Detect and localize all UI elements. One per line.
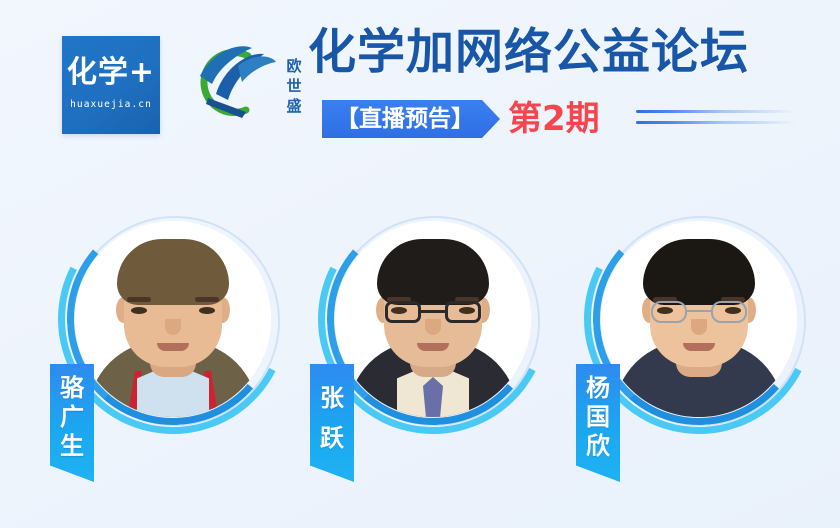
speaker-name-ribbon: 骆 广 生 [50, 364, 94, 482]
promo-poster: 化学+ huaxuejia.cn 欧 世 盛 化学加网络公益论坛 【直播预告】 … [0, 0, 840, 528]
oushisheng-logo-text: 欧 世 盛 [284, 56, 304, 116]
speaker-portrait-ring [328, 214, 542, 428]
speaker-name-char: 生 [50, 432, 94, 461]
speaker-portrait-ring [594, 214, 808, 428]
speaker-card: 骆 广 生 [22, 212, 282, 512]
speaker-photo [335, 221, 531, 417]
poster-header: 化学+ huaxuejia.cn 欧 世 盛 化学加网络公益论坛 【直播预告】 … [0, 0, 840, 165]
live-preview-badge: 【直播预告】 [322, 100, 500, 138]
swirl-icon [190, 32, 282, 136]
speaker-name-ribbon: 张 跃 [310, 364, 354, 482]
speaker-name-char: 欣 [576, 432, 620, 461]
huaxuejia-logo: 化学+ huaxuejia.cn [62, 36, 160, 134]
speaker-name-char: 杨 [576, 374, 620, 403]
oushisheng-logo: 欧 世 盛 [190, 32, 302, 136]
speaker-card: 杨 国 欣 [548, 212, 808, 512]
huaxuejia-logo-url: huaxuejia.cn [62, 99, 160, 110]
speaker-portrait-ring [68, 214, 282, 428]
speaker-photo [601, 221, 797, 417]
speaker-card: 张 跃 [282, 212, 542, 512]
partner-char-1: 世 [286, 77, 301, 95]
speaker-name-char: 骆 [50, 374, 94, 403]
huaxuejia-logo-mark: 化学+ [62, 58, 160, 88]
poster-title: 化学加网络公益论坛 [308, 26, 749, 79]
decorative-lines [636, 110, 806, 130]
speaker-name-char: 跃 [310, 418, 354, 458]
partner-char-2: 盛 [286, 97, 301, 115]
speaker-name-ribbon: 杨 国 欣 [576, 364, 620, 482]
speaker-name-char: 国 [576, 403, 620, 432]
partner-char-0: 欧 [286, 57, 301, 75]
speaker-name-char: 广 [50, 403, 94, 432]
speaker-name-char: 张 [310, 378, 354, 418]
speaker-photo [75, 221, 271, 417]
issue-number-label: 第2期 [508, 98, 600, 140]
